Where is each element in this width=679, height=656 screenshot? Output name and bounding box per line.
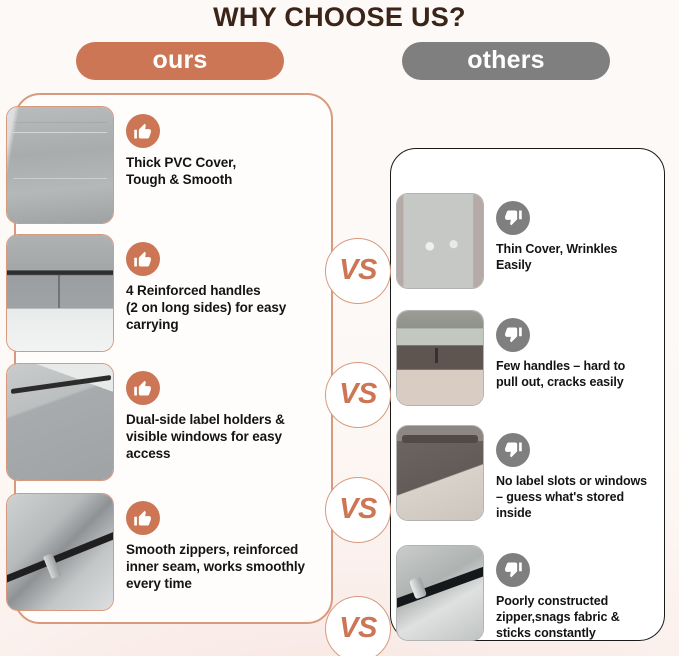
thumbs-down-icon: [496, 433, 530, 467]
others-caption-1: Thin Cover, Wrinkles Easily: [496, 241, 617, 273]
others-caption-3: No label slots or windows – guess what's…: [496, 473, 647, 521]
ours-caption-2: 4 Reinforced handles (2 on long sides) f…: [126, 282, 286, 334]
thumbs-down-icon: [496, 318, 530, 352]
few-handles-photo: [396, 310, 484, 406]
others-caption-4: Poorly constructed zipper,snags fabric &…: [496, 593, 620, 641]
others-row-4: Poorly constructed zipper,snags fabric &…: [396, 545, 658, 641]
ours-row-1: Thick PVC Cover, Tough & Smooth: [6, 106, 313, 224]
smooth-zipper-photo: [6, 493, 114, 611]
vs-badge-2: VS: [325, 362, 391, 428]
others-caption-2: Few handles – hard to pull out, cracks e…: [496, 358, 625, 390]
thumbs-up-icon: [126, 114, 160, 148]
thumbs-down-icon: [496, 553, 530, 587]
label-holder-box-photo: [6, 363, 114, 481]
page-title: WHY CHOOSE US?: [0, 0, 679, 33]
comparison-board: Thick PVC Cover, Tough & Smooth 4 Reinfo…: [0, 90, 679, 645]
no-label-slots-photo: [396, 425, 484, 521]
ours-row-2: 4 Reinforced handles (2 on long sides) f…: [6, 234, 313, 352]
column-headers: ours others: [0, 42, 679, 90]
ours-row-3: Dual-side label holders & visible window…: [6, 363, 313, 481]
vs-badge-1: VS: [325, 238, 391, 304]
column-header-ours: ours: [76, 42, 284, 80]
ours-caption-3: Dual-side label holders & visible window…: [126, 411, 285, 463]
vs-badge-4: VS: [325, 596, 391, 656]
ours-row-4: Smooth zippers, reinforced inner seam, w…: [6, 493, 313, 611]
others-row-3: No label slots or windows – guess what's…: [396, 425, 658, 521]
thumbs-up-icon: [126, 501, 160, 535]
thumbs-up-icon: [126, 371, 160, 405]
others-row-2: Few handles – hard to pull out, cracks e…: [396, 310, 658, 406]
ours-caption-4: Smooth zippers, reinforced inner seam, w…: [126, 541, 305, 593]
vs-badge-3: VS: [325, 477, 391, 543]
reinforced-handles-photo: [6, 234, 114, 352]
pvc-cover-photo: [6, 106, 114, 224]
ours-caption-1: Thick PVC Cover, Tough & Smooth: [126, 154, 236, 189]
column-header-others: others: [402, 42, 610, 80]
thumbs-up-icon: [126, 242, 160, 276]
thumbs-down-icon: [496, 201, 530, 235]
others-row-1: Thin Cover, Wrinkles Easily: [396, 193, 658, 289]
thin-cover-photo: [396, 193, 484, 289]
poor-zipper-photo: [396, 545, 484, 641]
